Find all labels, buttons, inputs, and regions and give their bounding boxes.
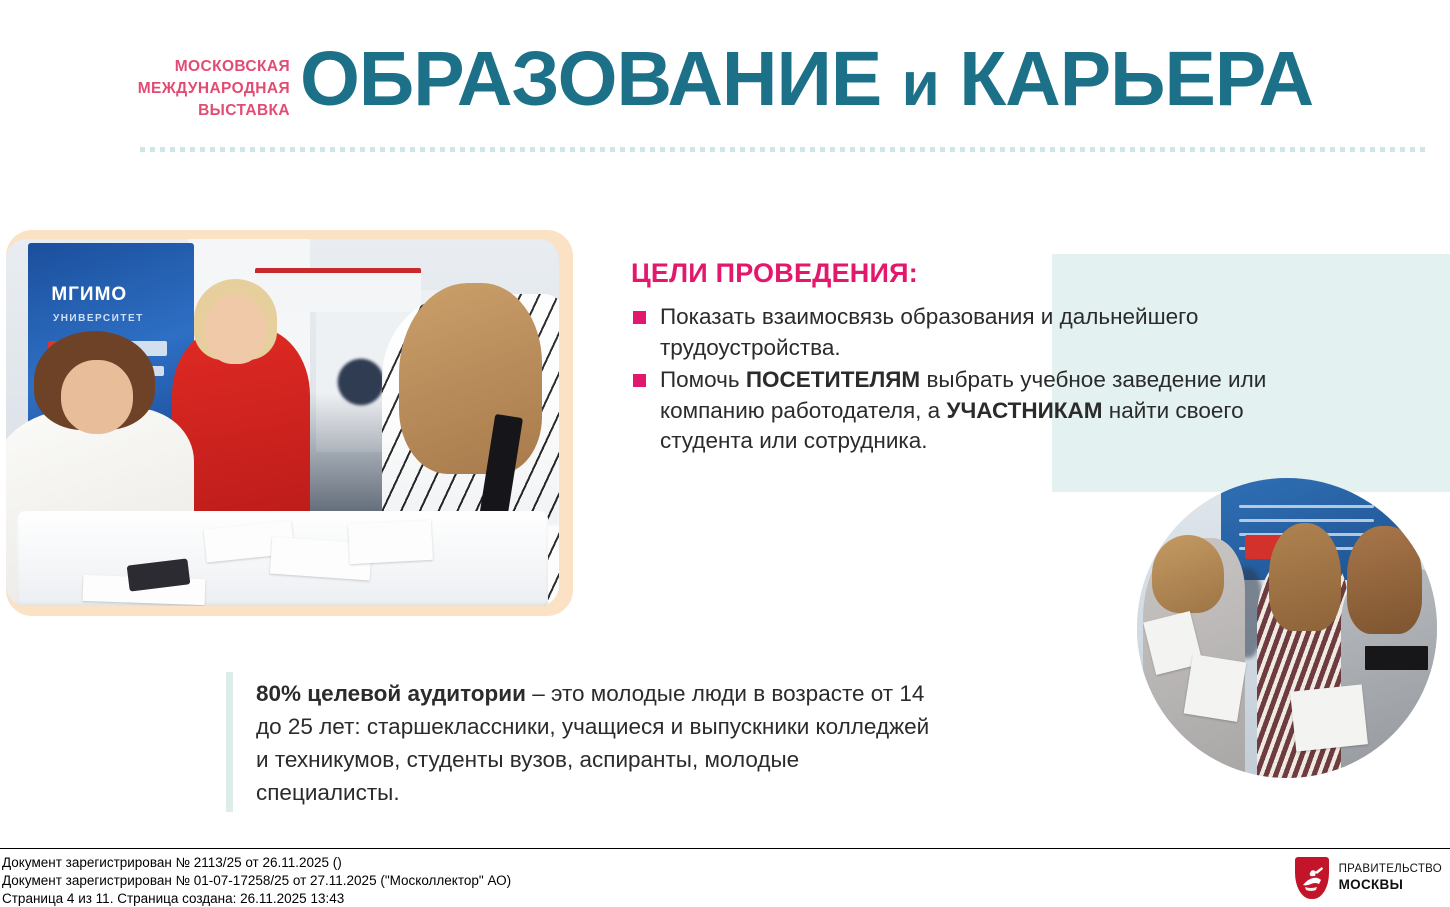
header-dotted-divider: [140, 147, 1428, 152]
photo-person-right-hair: [399, 283, 543, 474]
logo-line-1: МОСКОВСКАЯ: [90, 56, 290, 78]
footer-line-2: Документ зарегистрирован № 01-07-17258/2…: [2, 872, 511, 890]
left-photo-frame: МГИМО УНИВЕРСИТЕТ: [6, 230, 573, 616]
footer-registration-text: Документ зарегистрирован № 2113/25 от 26…: [2, 854, 511, 907]
square-bullet-icon: [633, 311, 646, 324]
circle-photo-person-3-hair: [1347, 526, 1422, 634]
photo-banner-title: МГИМО: [51, 284, 127, 306]
saint-george-icon: [1299, 865, 1325, 893]
photo-banner-subtitle: УНИВЕРСИТЕТ: [53, 313, 144, 324]
moscow-government-label: ПРАВИТЕЛЬСТВО МОСКВЫ: [1339, 862, 1442, 893]
title-word-education: ОБРАЗОВАНИЕ: [300, 36, 881, 122]
circle-photo-person-2-hair: [1269, 523, 1341, 631]
square-bullet-icon: [633, 374, 646, 387]
goal-item: Показать взаимосвязь образования и дальн…: [631, 302, 1311, 363]
circle-photo: [1137, 478, 1437, 778]
page-title: ОБРАЗОВАНИЕ и КАРЬЕРА: [300, 41, 1313, 118]
logo-line-2: МЕЖДУНАРОДНАЯ: [90, 78, 290, 100]
footer-divider: [0, 848, 1450, 849]
title-word-career: КАРЬЕРА: [959, 36, 1313, 122]
slide-header: МОСКОВСКАЯ МЕЖДУНАРОДНАЯ ВЫСТАВКА ОБРАЗО…: [0, 0, 1450, 150]
left-photo: МГИМО УНИВЕРСИТЕТ: [6, 239, 559, 606]
circle-photo-leaflet-2: [1184, 654, 1247, 722]
circle-photo-person-1-hair: [1152, 535, 1224, 613]
logo-line-3: ВЫСТАВКА: [90, 100, 290, 122]
audience-accent-bar: [226, 672, 233, 812]
circle-photo-leaflet-3: [1290, 684, 1368, 751]
gov-label-line-2: МОСКВЫ: [1339, 877, 1442, 894]
circle-photo-shirt-tag: [1365, 646, 1428, 670]
goal-item-text: Показать взаимосвязь образования и дальн…: [660, 302, 1311, 363]
goals-section: ЦЕЛИ ПРОВЕДЕНИЯ: Показать взаимосвязь об…: [631, 258, 1311, 459]
slide-root: МОСКОВСКАЯ МЕЖДУНАРОДНАЯ ВЫСТАВКА ОБРАЗО…: [0, 0, 1450, 907]
photo-person-left-face: [61, 360, 133, 433]
goals-heading: ЦЕЛИ ПРОВЕДЕНИЯ:: [631, 258, 1311, 289]
gov-label-line-1: ПРАВИТЕЛЬСТВО: [1339, 862, 1442, 876]
moscow-government-logo: ПРАВИТЕЛЬСТВО МОСКВЫ: [1295, 857, 1442, 899]
moscow-coat-of-arms-icon: [1295, 857, 1329, 899]
title-conjunction: и: [902, 50, 939, 119]
goal-item: Помочь ПОСЕТИТЕЛЯМ выбрать учебное завед…: [631, 365, 1311, 457]
footer-line-1: Документ зарегистрирован № 2113/25 от 26…: [2, 854, 511, 872]
audience-statement: 80% целевой аудитории – это молодые люди…: [256, 678, 936, 809]
exhibition-logo-text: МОСКОВСКАЯ МЕЖДУНАРОДНАЯ ВЫСТАВКА: [90, 56, 290, 122]
photo-person-red-face: [205, 294, 266, 364]
goal-item-text: Помочь ПОСЕТИТЕЛЯМ выбрать учебное завед…: [660, 365, 1311, 457]
photo-leaflet-3: [348, 519, 433, 564]
footer-line-3: Страница 4 из 11. Страница создана: 26.1…: [2, 890, 511, 907]
